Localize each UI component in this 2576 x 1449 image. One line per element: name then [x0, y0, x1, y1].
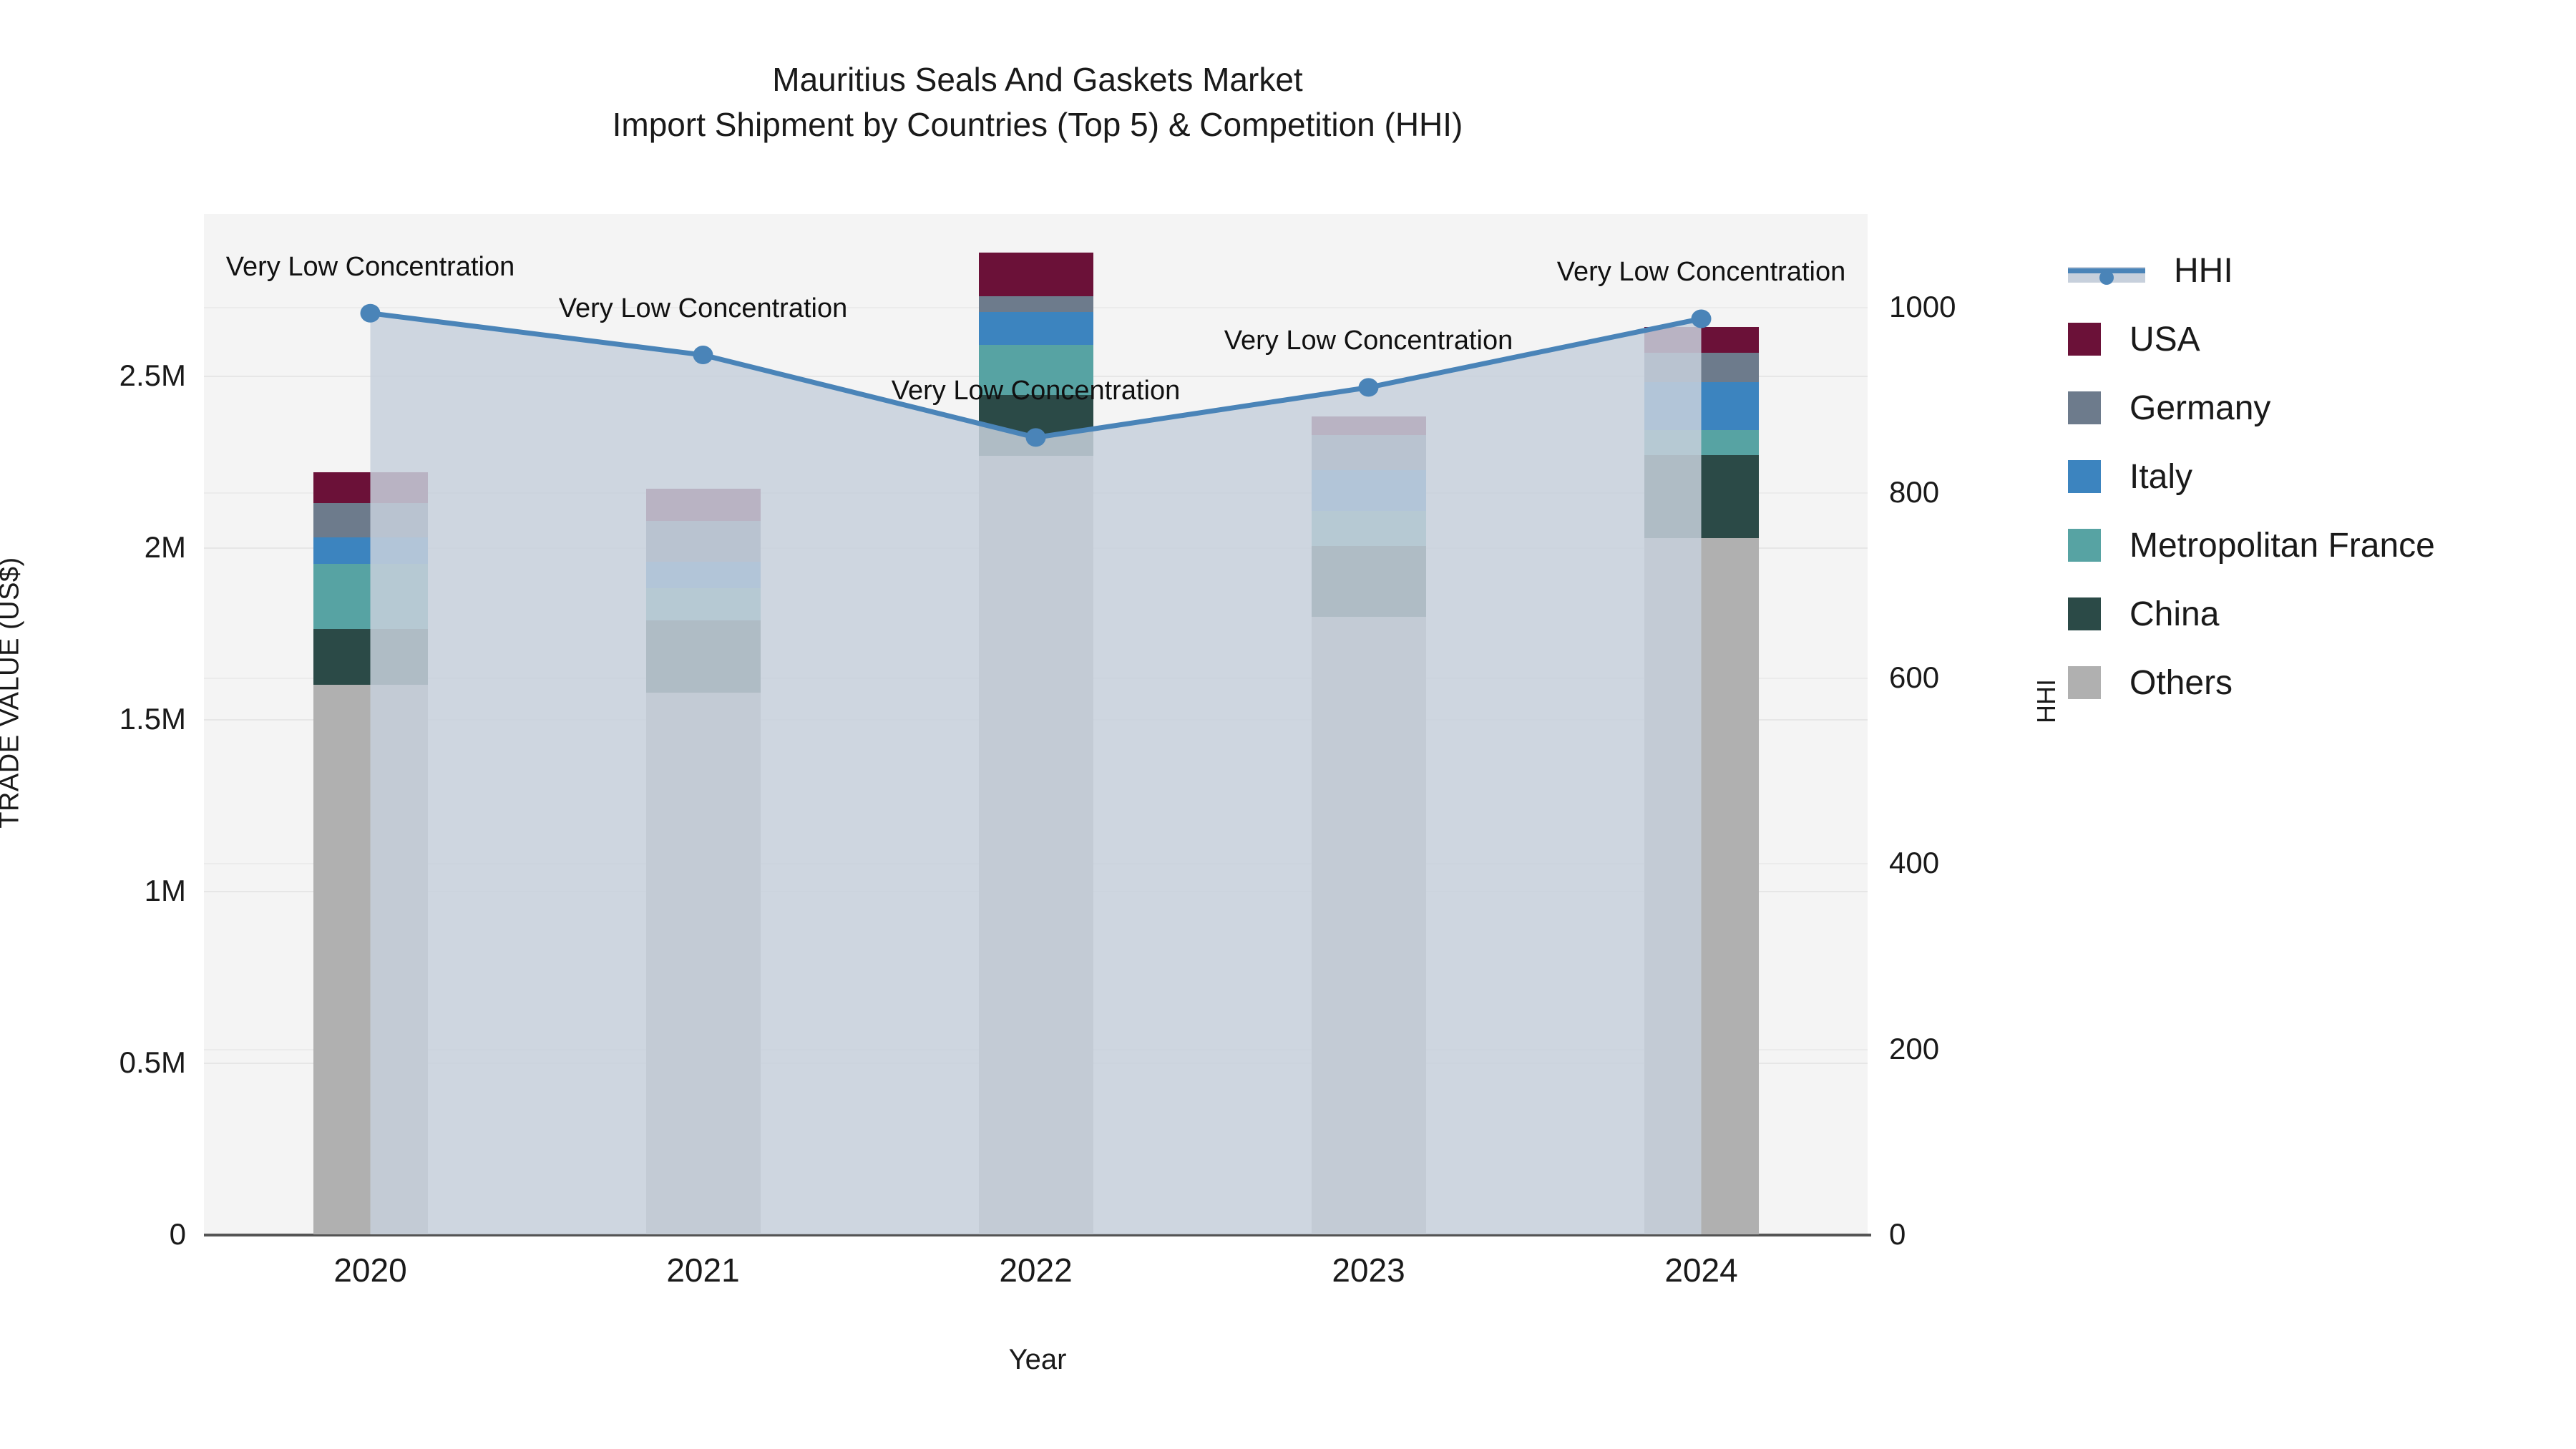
x-axis-tick-label[interactable]: 2022	[999, 1251, 1072, 1289]
legend-item-china[interactable]: China	[2068, 580, 2435, 648]
hhi-annotation-2021: Very Low Concentration	[559, 293, 847, 324]
y-axis-title-right: HHI	[2031, 679, 2062, 723]
legend-item-usa[interactable]: USA	[2068, 305, 2435, 374]
x-axis-title: Year	[0, 1344, 2075, 1376]
legend-label: China	[2129, 595, 2219, 634]
legend-swatch-icon	[2068, 529, 2101, 562]
y2-axis-tick-label: 200	[1889, 1032, 1939, 1066]
hhi-marker-2020[interactable]	[361, 304, 381, 323]
legend-item-hhi[interactable]: HHI	[2068, 236, 2435, 305]
chart-title-line-1: Mauritius Seals And Gaskets Market	[0, 57, 2075, 102]
y-axis-tick-label: 2M	[145, 530, 186, 565]
y-axis-tick-label: 2.5M	[119, 358, 186, 393]
hhi-annotation-2020: Very Low Concentration	[226, 252, 514, 283]
y2-axis-tick-label: 400	[1889, 846, 1939, 880]
hhi-marker-2024[interactable]	[1692, 309, 1712, 328]
legend-label: Metropolitan France	[2129, 526, 2435, 565]
legend-swatch-icon	[2068, 666, 2101, 699]
y2-axis-tick-label: 1000	[1889, 290, 1956, 324]
legend-label: Italy	[2129, 457, 2192, 497]
legend-label: Others	[2129, 663, 2233, 703]
y-axis-tick-label: 1M	[145, 874, 186, 908]
legend-swatch-icon	[2068, 460, 2101, 493]
hhi-annotation-2024: Very Low Concentration	[1557, 257, 1845, 288]
chart-canvas: Mauritius Seals And Gaskets Market Impor…	[0, 0, 2576, 1449]
x-axis-tick-label[interactable]: 2024	[1664, 1251, 1737, 1289]
legend-item-metropolitan-france[interactable]: Metropolitan France	[2068, 511, 2435, 580]
hhi-annotation-2023: Very Low Concentration	[1224, 326, 1513, 356]
legend-swatch-icon	[2068, 391, 2101, 424]
x-axis-tick-label[interactable]: 2021	[666, 1251, 739, 1289]
hhi-line-series	[204, 214, 1868, 1234]
legend-line-marker-icon	[2068, 254, 2145, 287]
y-axis-tick-label: 0	[170, 1217, 186, 1252]
y2-axis-tick-label: 0	[1889, 1217, 1906, 1252]
hhi-marker-2023[interactable]	[1359, 378, 1379, 396]
chart-title: Mauritius Seals And Gaskets Market Impor…	[0, 57, 2075, 148]
y-axis-tick-label: 0.5M	[119, 1045, 186, 1080]
y2-axis-tick-label: 800	[1889, 475, 1939, 509]
hhi-area-fill	[371, 313, 1702, 1234]
legend-swatch-icon	[2068, 597, 2101, 630]
y2-axis-tick-label: 600	[1889, 660, 1939, 695]
legend-item-others[interactable]: Others	[2068, 648, 2435, 717]
x-axis-tick-label[interactable]: 2020	[333, 1251, 406, 1289]
legend: HHIUSAGermanyItalyMetropolitan FranceChi…	[2068, 236, 2435, 717]
legend-item-italy[interactable]: Italy	[2068, 442, 2435, 511]
hhi-marker-2022[interactable]	[1026, 428, 1046, 447]
x-axis-tick-label[interactable]: 2023	[1332, 1251, 1405, 1289]
hhi-marker-2021[interactable]	[693, 346, 713, 364]
hhi-annotation-2022: Very Low Concentration	[892, 376, 1180, 406]
legend-label: USA	[2129, 320, 2200, 359]
chart-title-line-2: Import Shipment by Countries (Top 5) & C…	[0, 102, 2075, 147]
legend-label: HHI	[2174, 251, 2233, 291]
y-axis-title-left: TRADE VALUE (US$)	[0, 557, 26, 828]
y-axis-tick-label: 1.5M	[119, 702, 186, 736]
legend-item-germany[interactable]: Germany	[2068, 374, 2435, 442]
legend-swatch-icon	[2068, 323, 2101, 356]
legend-label: Germany	[2129, 389, 2270, 428]
